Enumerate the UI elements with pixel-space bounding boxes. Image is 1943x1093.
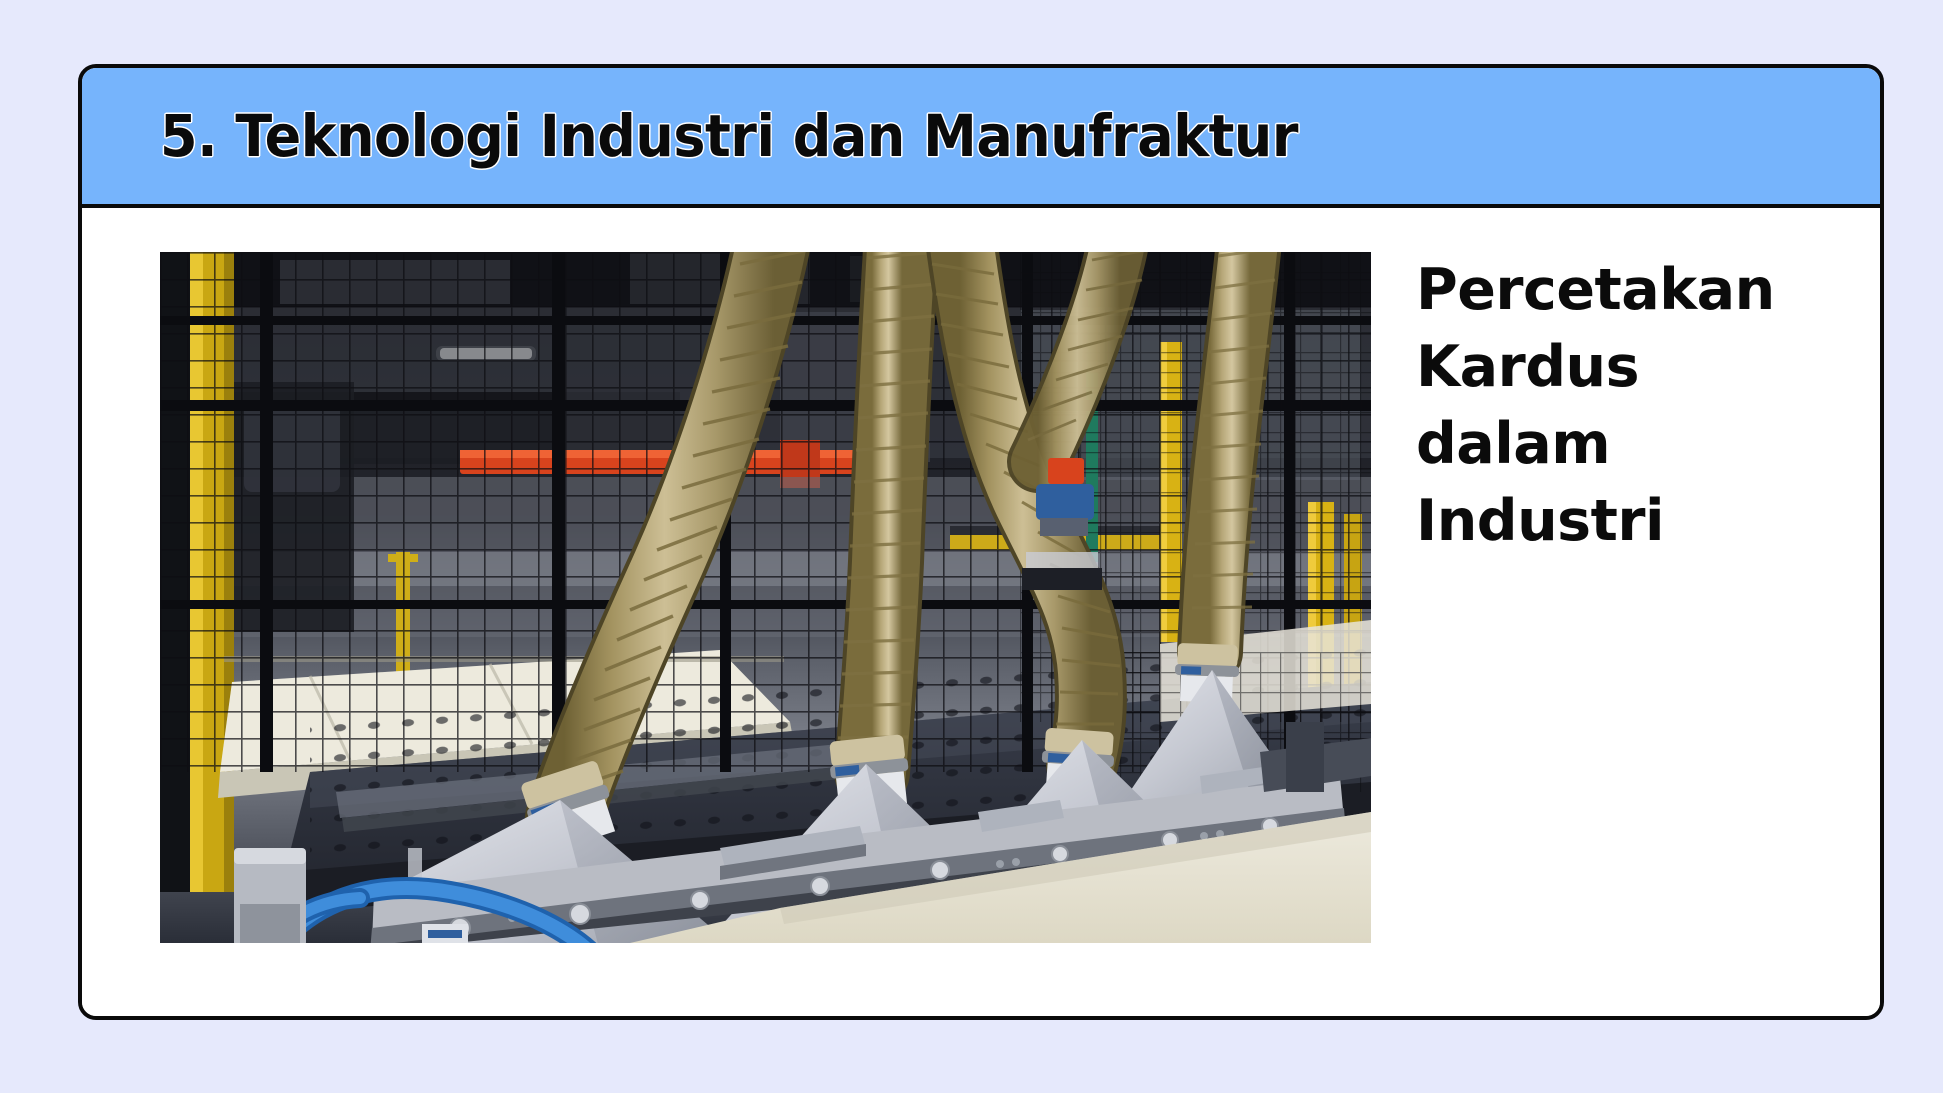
caption-line-4: Industri <box>1416 483 1816 560</box>
slide-body: Percetakan Kardus dalam Industri <box>82 208 1880 1016</box>
page-title: 5. Teknologi Industri dan Manufraktur <box>160 107 1298 165</box>
slide-header-band: 5. Teknologi Industri dan Manufraktur <box>82 68 1880 208</box>
caption-line-1: Percetakan <box>1416 252 1816 329</box>
caption-line-3: dalam <box>1416 406 1816 483</box>
caption-line-2: Kardus <box>1416 329 1816 406</box>
caption-block: Percetakan Kardus dalam Industri <box>1416 252 1816 560</box>
slide-card: 5. Teknologi Industri dan Manufraktur <box>78 64 1884 1020</box>
industrial-machine-photo <box>160 252 1371 943</box>
photo-illustration <box>160 252 1371 943</box>
